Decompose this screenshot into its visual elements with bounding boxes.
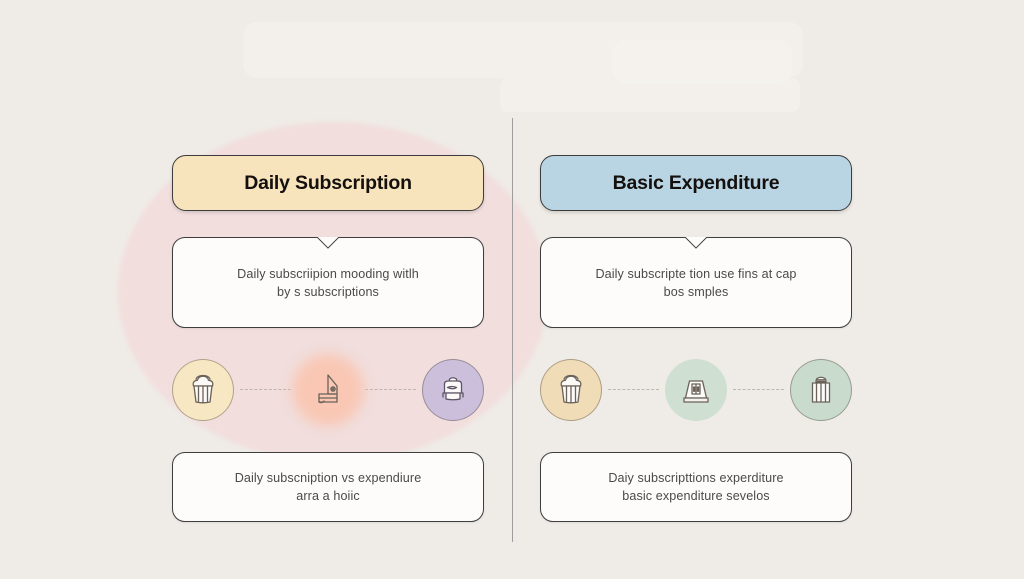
- icon-flow-left: [172, 354, 484, 426]
- speech-bubble-right: Daily subscripte tion use fins at cap bo…: [540, 237, 852, 328]
- cupcake-icon: [183, 370, 223, 410]
- speech-bubble-left: Daily subscriipion mooding witlh by s su…: [172, 237, 484, 328]
- footer-text-line: arra a hoiic: [296, 487, 360, 505]
- panel-basic-expenditure: Basic Expenditure Daily subscripte tion …: [540, 155, 852, 522]
- laptop-icon: [676, 370, 716, 410]
- flow-connector: [608, 389, 659, 391]
- flow-connector: [365, 389, 416, 391]
- panel-divider: [512, 118, 513, 542]
- panel-title: Basic Expenditure: [613, 172, 780, 195]
- speech-bubble-notch: [313, 237, 343, 252]
- icon-node-house[interactable]: [297, 359, 359, 421]
- icon-node-shopping-bag[interactable]: [790, 359, 852, 421]
- icon-node-cupcake[interactable]: [172, 359, 234, 421]
- panel-header-left[interactable]: Daily Subscription: [172, 155, 484, 211]
- icon-node-cupcake[interactable]: [540, 359, 602, 421]
- icon-node-laptop[interactable]: [665, 359, 727, 421]
- panel-header-right[interactable]: Basic Expenditure: [540, 155, 852, 211]
- icon-node-robot[interactable]: [422, 359, 484, 421]
- bubble-text-line: bos smples: [664, 283, 729, 301]
- flow-connector: [240, 389, 291, 391]
- footer-text-line: Daiy subscripttions experditure: [608, 469, 783, 487]
- footer-card-left: Daily subscniption vs expendiure arra a …: [172, 452, 484, 522]
- background-ghost-shape: [500, 78, 800, 112]
- speech-bubble-notch: [681, 237, 711, 252]
- house-icon: [308, 370, 348, 410]
- bubble-text-line: Daily subscripte tion use fins at cap: [595, 265, 796, 283]
- footer-card-right: Daiy subscripttions experditure basic ex…: [540, 452, 852, 522]
- infographic-canvas: Daily Subscription Daily subscriipion mo…: [0, 0, 1024, 579]
- robot-icon: [433, 370, 473, 410]
- footer-text-line: basic expenditure sevelos: [622, 487, 769, 505]
- cupcake-icon: [551, 370, 591, 410]
- footer-text-line: Daily subscniption vs expendiure: [235, 469, 422, 487]
- shopping-bag-icon: [801, 370, 841, 410]
- icon-flow-right: [540, 354, 852, 426]
- panel-title: Daily Subscription: [244, 172, 412, 195]
- flow-connector: [733, 389, 784, 391]
- bubble-text-line: Daily subscriipion mooding witlh: [237, 265, 419, 283]
- bubble-text-line: by s subscriptions: [277, 283, 379, 301]
- panel-daily-subscription: Daily Subscription Daily subscriipion mo…: [172, 155, 484, 522]
